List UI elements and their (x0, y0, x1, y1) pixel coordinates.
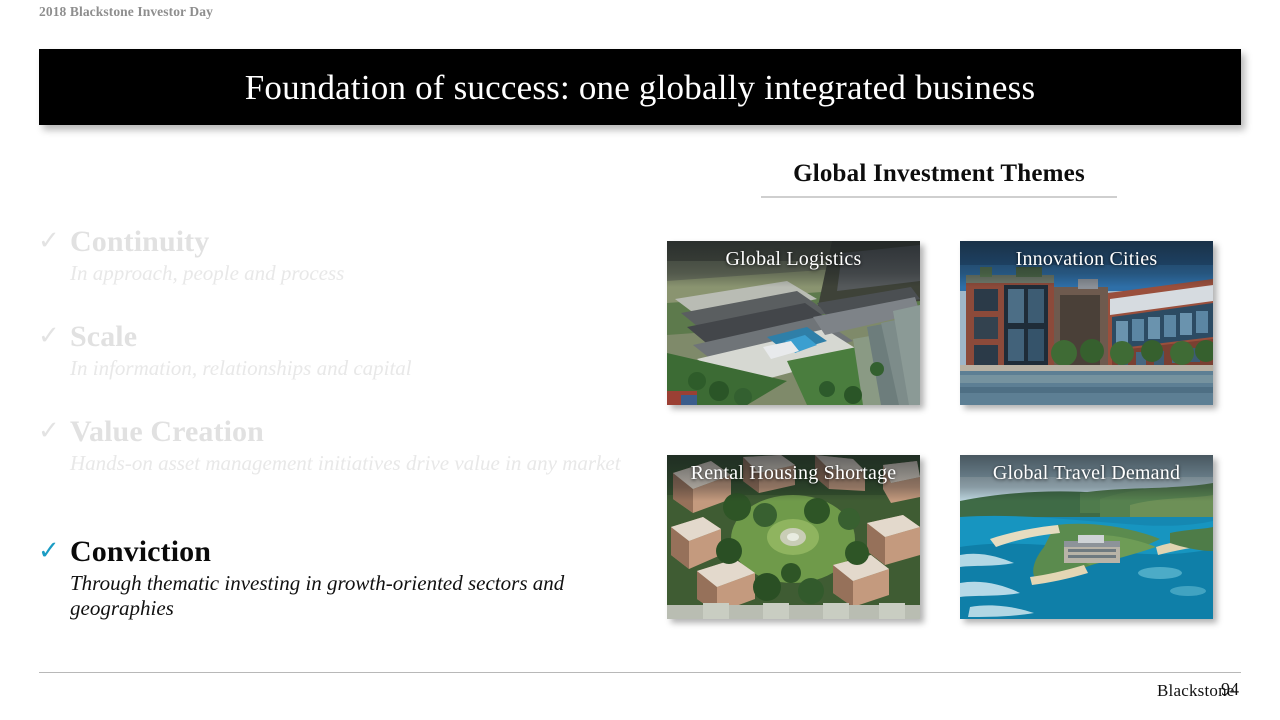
pillar-subtext: In approach, people and process (70, 261, 638, 286)
theme-card-caption: Global Logistics (667, 248, 920, 271)
themes-heading-wrap: Global Investment Themes (761, 160, 1117, 188)
check-icon: ✓ (38, 323, 60, 349)
pillar-heading: Scale (70, 320, 638, 354)
footer-divider (39, 672, 1241, 673)
pillar-scale[interactable]: ✓ Scale In information, relationships an… (38, 320, 638, 381)
check-icon: ✓ (38, 538, 60, 564)
check-icon: ✓ (38, 228, 60, 254)
footer-page-number: 94 (1221, 679, 1239, 700)
page-title: Foundation of success: one globally inte… (245, 70, 1036, 105)
theme-card-innovation-cities[interactable]: Innovation Cities (960, 241, 1213, 405)
pillar-heading: Conviction (70, 535, 638, 569)
theme-card-caption: Global Travel Demand (960, 462, 1213, 485)
slide: 2018 Blackstone Investor Day Foundation … (0, 0, 1280, 720)
theme-card-caption: Innovation Cities (960, 248, 1213, 271)
slide-title-bar: Foundation of success: one globally inte… (39, 49, 1241, 125)
theme-card-rental-housing[interactable]: Rental Housing Shortage (667, 455, 920, 619)
pillar-value-creation[interactable]: ✓ Value Creation Hands-on asset manageme… (38, 415, 638, 476)
themes-underline (761, 196, 1117, 198)
check-icon: ✓ (38, 418, 60, 444)
pillar-heading: Continuity (70, 225, 638, 259)
pillar-subtext: Hands-on asset management initiatives dr… (70, 451, 638, 476)
theme-card-caption: Rental Housing Shortage (667, 462, 920, 485)
pillar-heading: Value Creation (70, 415, 638, 449)
themes-heading: Global Investment Themes (761, 160, 1117, 188)
pillar-continuity[interactable]: ✓ Continuity In approach, people and pro… (38, 225, 638, 286)
pillar-conviction[interactable]: ✓ Conviction Through thematic investing … (38, 535, 638, 621)
slide-eyebrow: 2018 Blackstone Investor Day (39, 4, 213, 20)
theme-card-global-travel[interactable]: Global Travel Demand (960, 455, 1213, 619)
pillar-subtext: In information, relationships and capita… (70, 356, 638, 381)
pillar-subtext: Through thematic investing in growth-ori… (70, 571, 638, 621)
theme-card-global-logistics[interactable]: Global Logistics (667, 241, 920, 405)
